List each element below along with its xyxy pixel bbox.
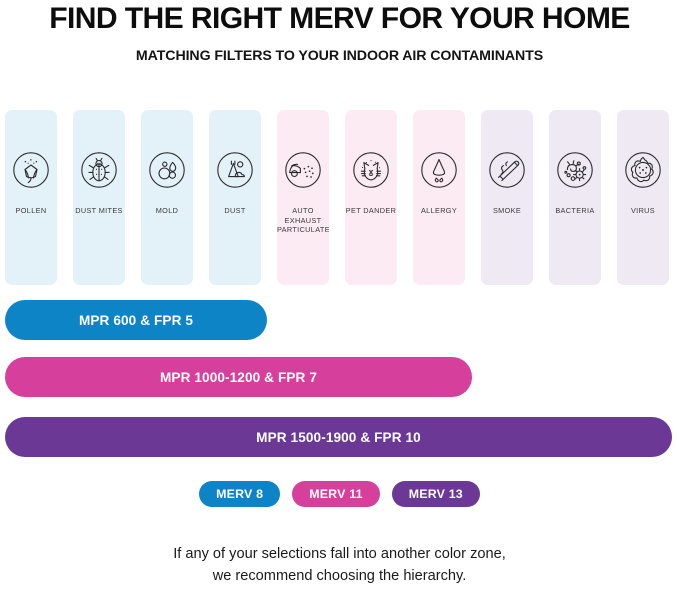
legend-chip-label: MERV 8 — [216, 487, 263, 501]
contaminant-columns: POLLEN — [0, 110, 679, 285]
car-exhaust-icon — [281, 148, 325, 192]
infographic-root: FIND THE RIGHT MERV FOR YOUR HOME MATCHI… — [0, 0, 679, 589]
legend-chip-merv11[interactable]: MERV 11 — [292, 481, 380, 507]
legend-chip-merv8[interactable]: MERV 8 — [199, 481, 280, 507]
contaminant-column-pollen[interactable]: POLLEN — [5, 110, 57, 285]
contaminant-label: VIRUS — [617, 206, 669, 216]
merv-bar-label: MPR 1500-1900 & FPR 10 — [256, 430, 421, 445]
contaminant-label: DUST MITES — [73, 206, 125, 216]
footer-line-2: we recommend choosing the hierarchy. — [0, 565, 679, 587]
contaminant-label: PET DANDER — [345, 206, 397, 216]
dust-pile-icon — [213, 148, 257, 192]
contaminant-column-auto-exhaust-particulates[interactable]: AUTO EXHAUST PARTICULATES — [277, 110, 329, 285]
virus-icon — [621, 148, 665, 192]
mite-icon — [77, 148, 121, 192]
footer-note: If any of your selections fall into anot… — [0, 543, 679, 587]
merv-legend: MERV 8 MERV 11 MERV 13 — [0, 481, 679, 507]
mold-spores-icon — [145, 148, 189, 192]
flower-icon — [9, 148, 53, 192]
contaminant-label: DUST — [209, 206, 261, 216]
page-subtitle: MATCHING FILTERS TO YOUR INDOOR AIR CONT… — [0, 48, 679, 64]
contaminant-label: ALLERGY — [413, 206, 465, 216]
nose-icon — [417, 148, 461, 192]
contaminant-column-dust[interactable]: DUST — [209, 110, 261, 285]
contaminant-label: BACTERIA — [549, 206, 601, 216]
merv-bar-label: MPR 600 & FPR 5 — [79, 313, 193, 328]
cat-face-icon — [349, 148, 393, 192]
legend-chip-merv13[interactable]: MERV 13 — [392, 481, 480, 507]
contaminant-column-dust-mites[interactable]: DUST MITES — [73, 110, 125, 285]
merv-bar-label: MPR 1000-1200 & FPR 7 — [160, 370, 317, 385]
contaminant-label: AUTO EXHAUST PARTICULATES — [277, 206, 329, 235]
merv-bar-merv8[interactable]: MPR 600 & FPR 5 — [5, 300, 267, 340]
contaminant-column-pet-dander[interactable]: PET DANDER — [345, 110, 397, 285]
cigarette-icon — [485, 148, 529, 192]
page-title: FIND THE RIGHT MERV FOR YOUR HOME — [0, 2, 679, 36]
contaminant-label: SMOKE — [481, 206, 533, 216]
contaminant-label: MOLD — [141, 206, 193, 216]
bacteria-icon — [553, 148, 597, 192]
legend-chip-label: MERV 13 — [409, 487, 463, 501]
contaminant-column-bacteria[interactable]: BACTERIA — [549, 110, 601, 285]
contaminant-column-mold[interactable]: MOLD — [141, 110, 193, 285]
legend-chip-label: MERV 11 — [309, 487, 363, 501]
merv-bar-merv11[interactable]: MPR 1000-1200 & FPR 7 — [5, 357, 472, 397]
contaminant-column-virus[interactable]: VIRUS — [617, 110, 669, 285]
contaminant-column-smoke[interactable]: SMOKE — [481, 110, 533, 285]
contaminant-column-allergy[interactable]: ALLERGY — [413, 110, 465, 285]
merv-bar-merv13[interactable]: MPR 1500-1900 & FPR 10 — [5, 417, 672, 457]
contaminant-label: POLLEN — [5, 206, 57, 216]
footer-line-1: If any of your selections fall into anot… — [173, 546, 506, 562]
